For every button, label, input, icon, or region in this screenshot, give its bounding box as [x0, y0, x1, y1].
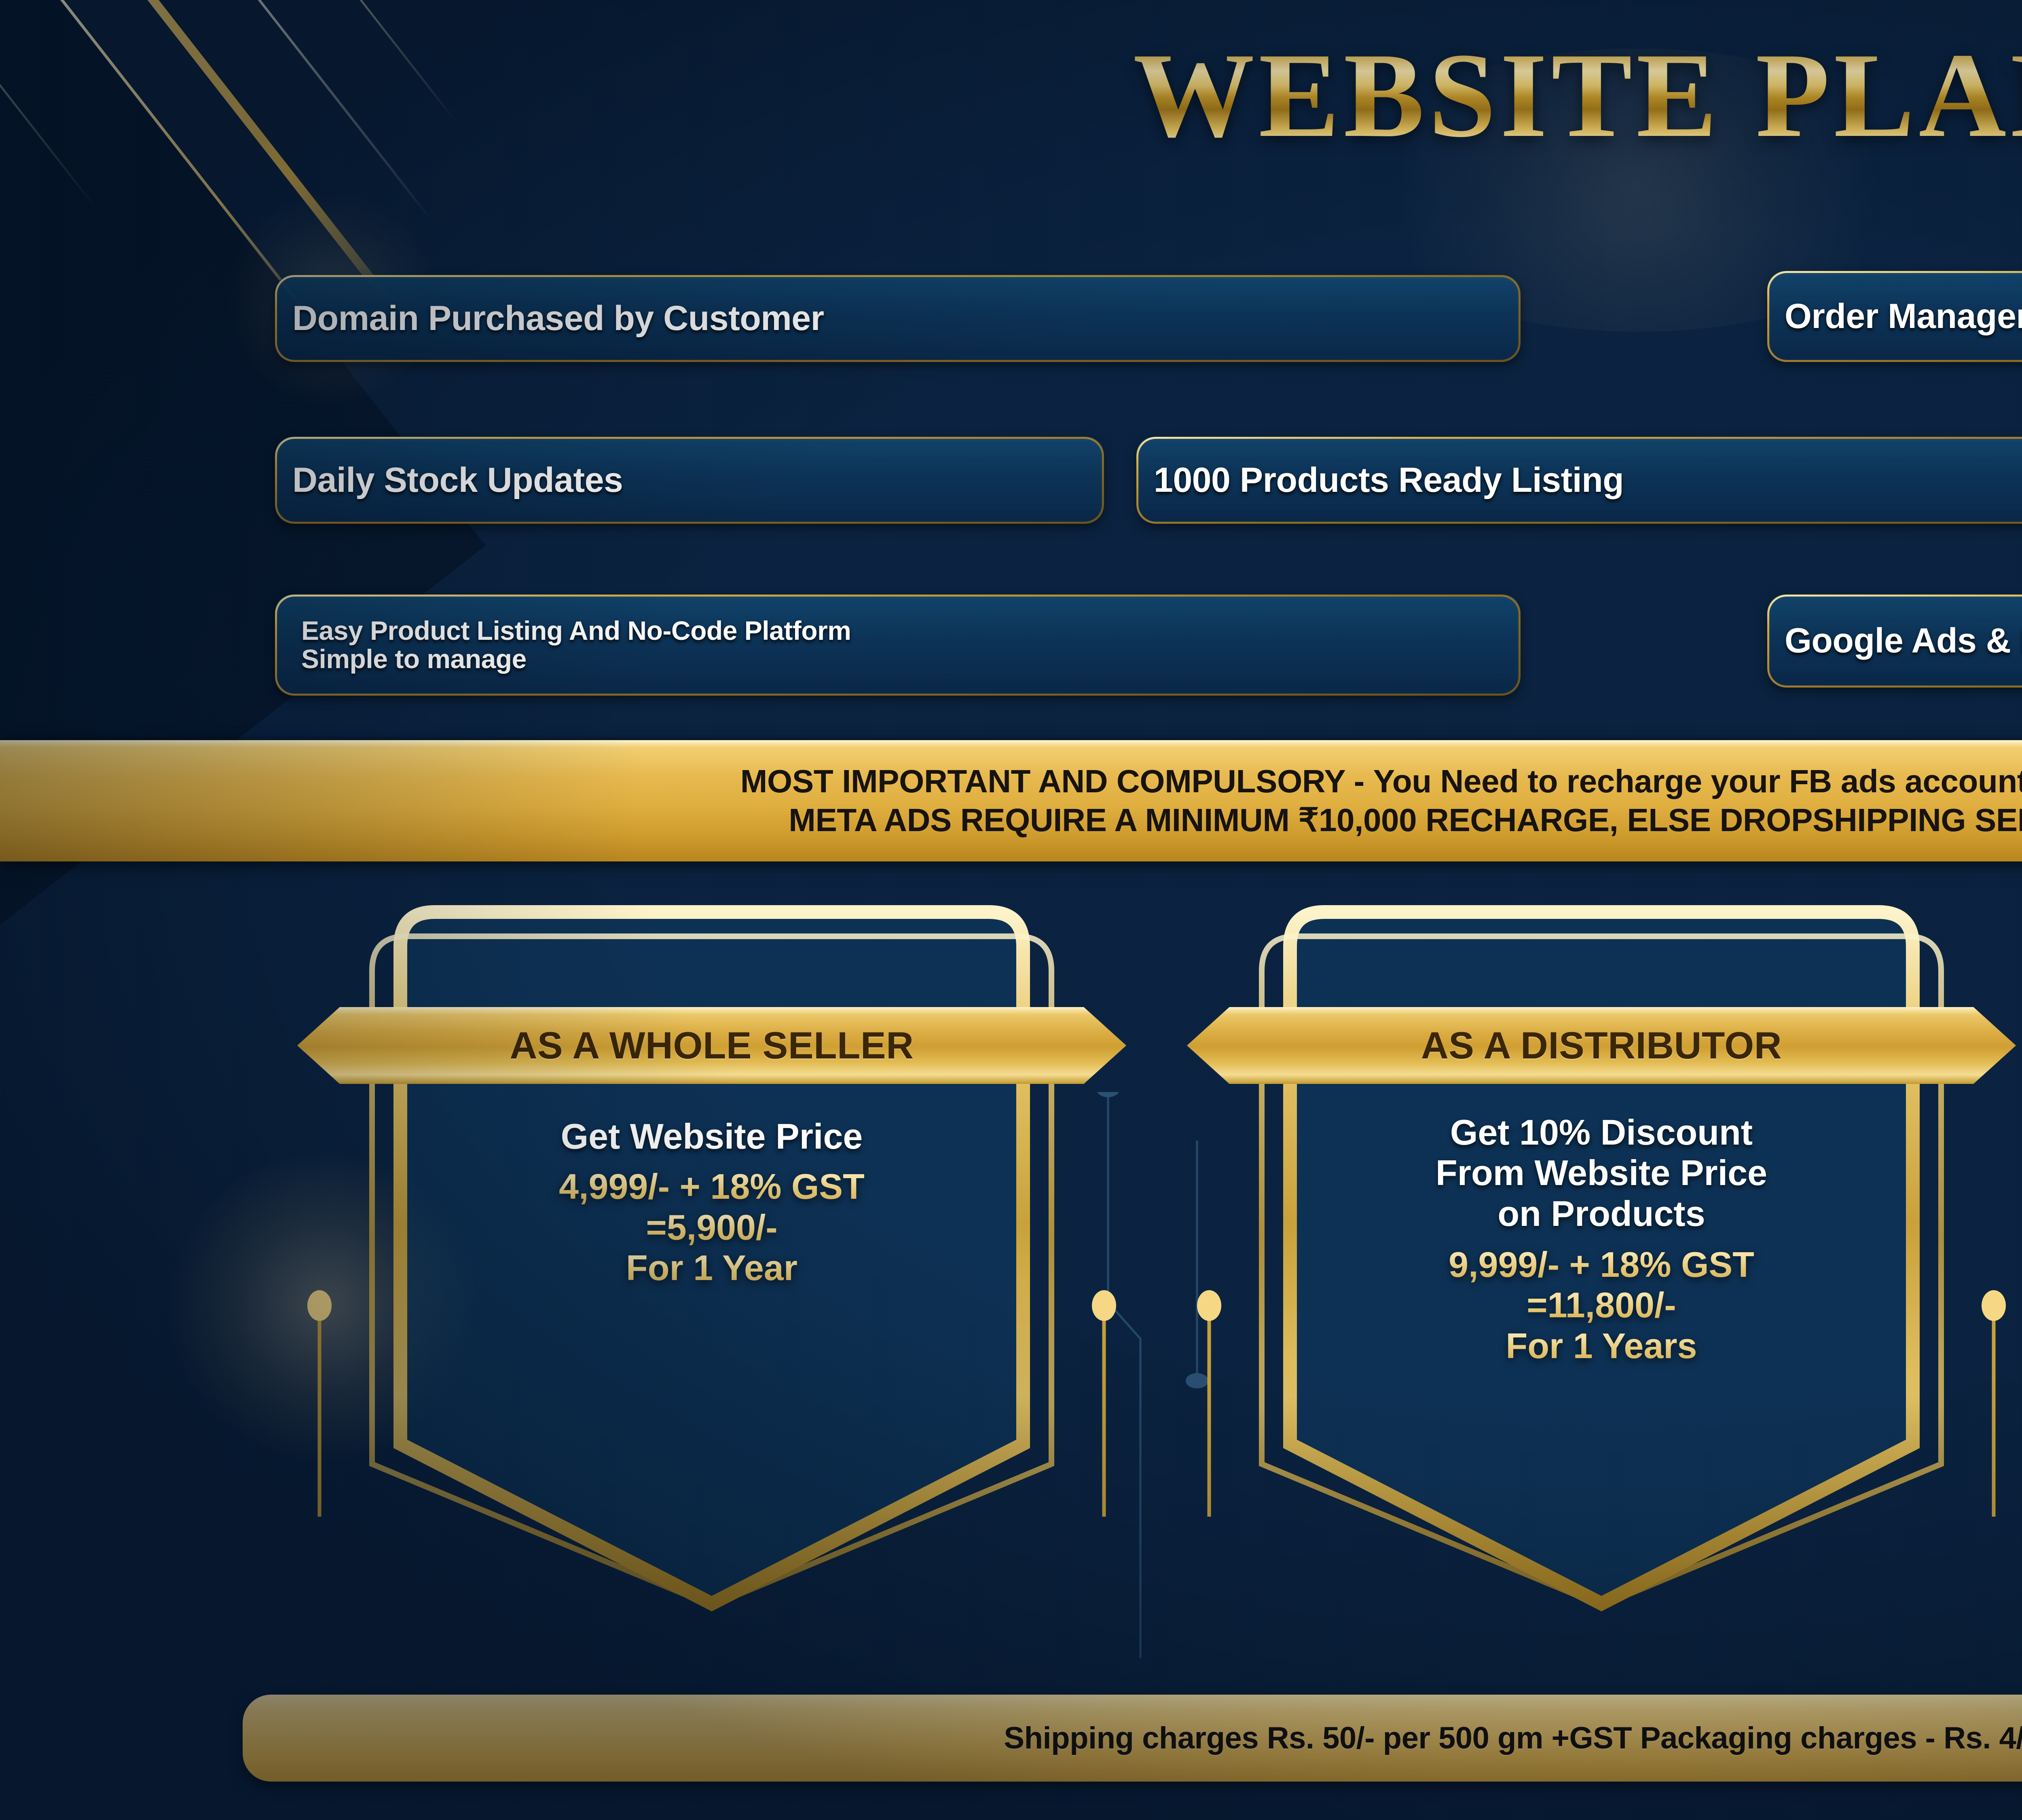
notice-banner: MOST IMPORTANT AND COMPULSORY - You Need… [0, 740, 2022, 861]
plan-white-line: From Website Price [1266, 1153, 1937, 1193]
feature-label: 1000 Products Ready Listing [1138, 462, 1639, 499]
plan-gold-line: =11,800/- [1266, 1285, 1937, 1325]
notice-line-1-rest: You Need to recharge your FB ads account… [1373, 763, 2022, 799]
plan-ribbon-distributor: AS A DISTRIBUTOR [1187, 1007, 2016, 1084]
feature-label: Google Ads & Meta Pixel Integration [1769, 622, 2022, 659]
plan-ribbon-label: AS A WHOLE SELLER [510, 1024, 914, 1067]
shipping-charges-label: Shipping charges Rs. 50/- per 500 gm +GS… [1004, 1721, 2022, 1756]
notice-line-1-bold: MOST IMPORTANT AND COMPULSORY - [740, 763, 1373, 799]
plan-pin-right [1969, 1290, 2018, 1517]
plan-pin-left [295, 1290, 344, 1517]
circuit-node [1097, 1092, 1119, 1097]
plan-gold-line: 4,999/- + 18% GST [388, 1166, 1035, 1207]
plan-gold-line: For 1 Years [1266, 1326, 1937, 1366]
plan-pin-right [1080, 1290, 1128, 1517]
notice-line-1: MOST IMPORTANT AND COMPULSORY - You Need… [740, 764, 2022, 799]
feature-pill-products-ready-listing[interactable]: 1000 Products Ready Listing [1136, 437, 2022, 524]
plan-body-whole-seller: Get Website Price 4,999/- + 18% GST =5,9… [388, 1116, 1035, 1288]
feature-label: Easy Product Listing And No-Code Platfor… [277, 617, 866, 673]
plan-body-distributor: Get 10% Discount From Website Price on P… [1266, 1112, 1937, 1366]
feature-label: Domain Purchased by Customer [277, 300, 840, 337]
title-area: WEBSITE PLAN [0, 0, 2022, 170]
poster-canvas: WEBSITE PLAN Domain Purchased by Custome… [0, 0, 2022, 1820]
feature-label: Daily Stock Updates [277, 462, 638, 499]
plan-pin-left [1185, 1290, 1233, 1517]
feature-pill-easy-product-listing[interactable]: Easy Product Listing And No-Code Platfor… [275, 595, 1521, 696]
page-title: WEBSITE PLAN [0, 34, 2022, 156]
plan-white-line: on Products [1266, 1194, 1937, 1234]
feature-pill-google-ads-meta-pixel[interactable]: Google Ads & Meta Pixel Integration [1767, 595, 2022, 688]
plan-white-line: Get 10% Discount [1266, 1112, 1937, 1153]
plan-gold-line: For 1 Year [388, 1248, 1035, 1288]
plan-card-distributor[interactable]: AS A DISTRIBUTOR Get 10% Discount From W… [1229, 894, 1973, 1622]
plan-gold-line: =5,900/- [388, 1207, 1035, 1248]
plan-ribbon-label: AS A DISTRIBUTOR [1421, 1024, 1782, 1067]
shipping-charges-banner: Shipping charges Rs. 50/- per 500 gm +GS… [243, 1695, 2022, 1782]
feature-label: Order Management Panel [1769, 298, 2022, 335]
feature-pill-domain-purchased[interactable]: Domain Purchased by Customer [275, 275, 1521, 362]
plan-ribbon-whole-seller: AS A WHOLE SELLER [297, 1007, 1126, 1084]
plan-gold-line: 9,999/- + 18% GST [1266, 1244, 1937, 1285]
feature-pill-daily-stock[interactable]: Daily Stock Updates [275, 437, 1104, 524]
notice-line-2: META ADS REQUIRE A MINIMUM ₹10,000 RECHA… [789, 802, 2022, 838]
plan-white-line: Get Website Price [388, 1116, 1035, 1157]
plan-card-whole-seller[interactable]: AS A WHOLE SELLER Get Website Price 4,99… [340, 894, 1084, 1622]
feature-pill-order-management[interactable]: Order Management Panel [1767, 271, 2022, 362]
